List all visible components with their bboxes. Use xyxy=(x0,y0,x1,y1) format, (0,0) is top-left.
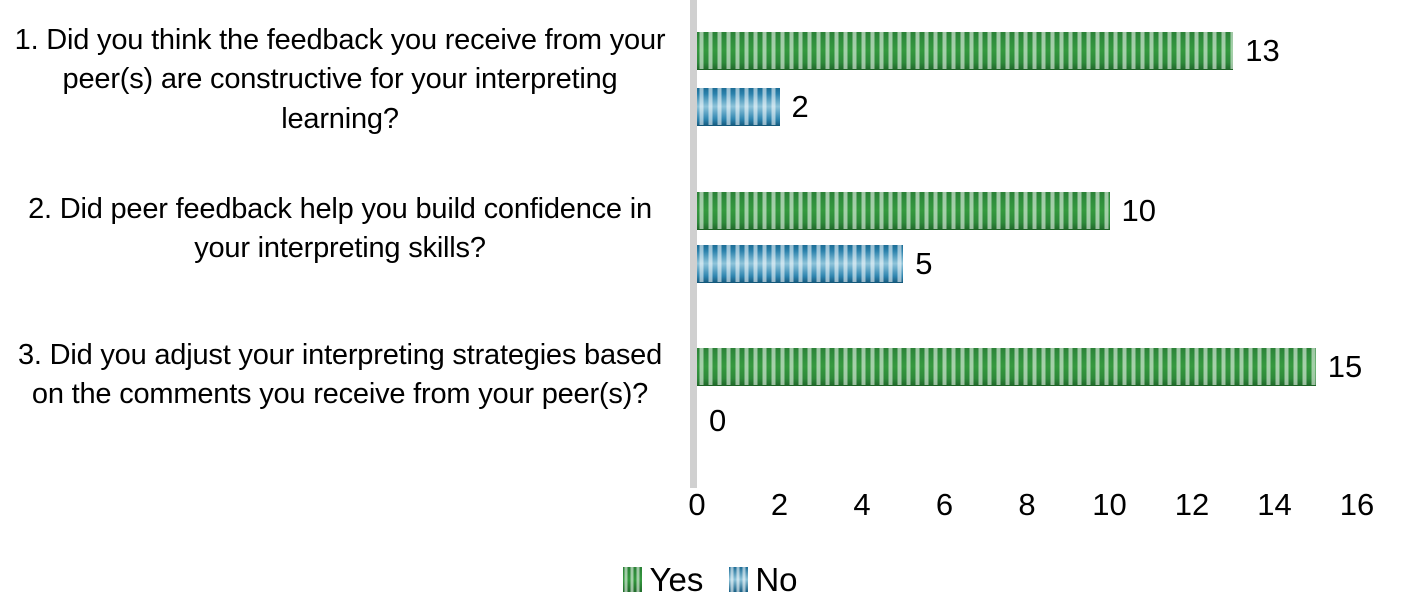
bar-q2-yes[interactable] xyxy=(697,192,1110,230)
bar-q3-yes[interactable] xyxy=(697,348,1316,386)
legend-swatch-yes-icon xyxy=(623,567,642,592)
value-axis-tick-12: 12 xyxy=(1175,487,1209,523)
value-axis-tick-14: 14 xyxy=(1257,487,1291,523)
bar-value-q3-yes: 15 xyxy=(1328,349,1362,385)
legend-item-no[interactable]: No xyxy=(729,563,797,596)
value-axis-tick-8: 8 xyxy=(1018,487,1035,523)
value-axis-tick-6: 6 xyxy=(936,487,953,523)
value-axis-tick-4: 4 xyxy=(853,487,870,523)
bar-q2-no[interactable] xyxy=(697,245,903,283)
bar-q1-no[interactable] xyxy=(697,88,780,126)
bar-value-q2-no: 5 xyxy=(915,246,932,282)
value-axis-tick-10: 10 xyxy=(1092,487,1126,523)
value-axis: 0246810121416 xyxy=(697,487,1357,537)
value-axis-tick-0: 0 xyxy=(688,487,705,523)
category-label-q1: 1. Did you think the feedback you receiv… xyxy=(0,21,680,139)
bar-value-q2-yes: 10 xyxy=(1122,193,1156,229)
legend-label-yes: Yes xyxy=(649,563,703,596)
category-axis-line xyxy=(690,0,697,488)
category-label-q2: 2. Did peer feedback help you build conf… xyxy=(0,190,680,269)
horizontal-bar-chart: 1. Did you think the feedback you receiv… xyxy=(0,0,1421,612)
category-label-q3: 3. Did you adjust your interpreting stra… xyxy=(0,336,680,415)
bar-value-q3-no: 0 xyxy=(709,403,726,439)
value-axis-tick-2: 2 xyxy=(771,487,788,523)
bar-value-q1-no: 2 xyxy=(792,89,809,125)
legend-item-yes[interactable]: Yes xyxy=(623,563,703,596)
bar-value-q1-yes: 13 xyxy=(1245,33,1279,69)
legend-label-no: No xyxy=(755,563,797,596)
plot-area: 13 2 10 5 15 0 xyxy=(697,0,1357,488)
chart-legend: Yes No xyxy=(0,563,1421,596)
bar-q1-yes[interactable] xyxy=(697,32,1233,70)
legend-swatch-no-icon xyxy=(729,567,748,592)
value-axis-tick-16: 16 xyxy=(1340,487,1374,523)
